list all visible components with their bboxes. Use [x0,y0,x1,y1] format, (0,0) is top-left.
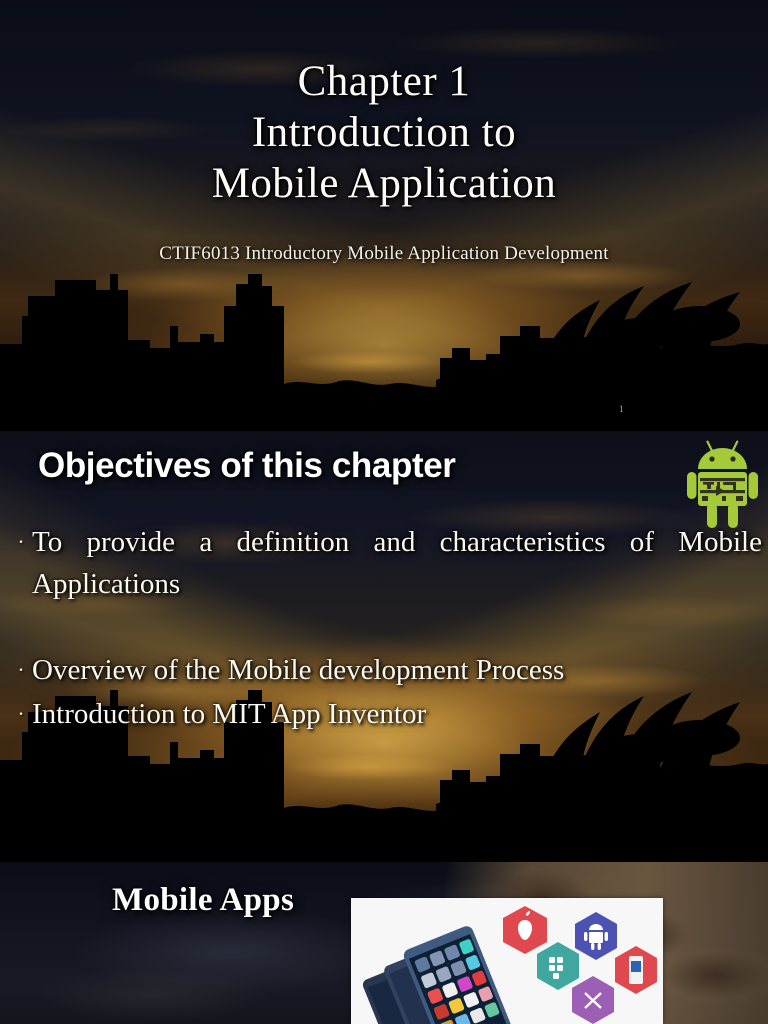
slide-document: Chapter 1 Introduction to Mobile Applica… [0,0,768,1024]
mobile-apps-heading: Mobile Apps [112,882,294,919]
bullet-text: To provide a definition and characterist… [32,521,762,647]
title-line-1: Chapter 1 [0,56,768,107]
slide-objectives: Objectives of this chapter [0,431,768,862]
objectives-heading: Objectives of this chapter [38,446,456,486]
slide-divider-2 [0,860,768,862]
list-item: · To provide a definition and characteri… [10,521,762,647]
page-number: 1 [619,404,624,414]
android-robot-icon [686,439,759,529]
list-item: · Overview of the Mobile development Pro… [10,649,762,691]
bullet-dot-icon: · [10,693,32,735]
list-item: · Introduction to MIT App Inventor [10,693,762,735]
slide-divider-1 [0,429,768,431]
bullet-text: Overview of the Mobile development Proce… [32,649,762,691]
course-subtitle: CTIF6013 Introductory Mobile Application… [0,243,768,265]
mobile-apps-photo [351,898,663,1024]
slide-title: Chapter 1 Introduction to Mobile Applica… [0,0,768,431]
title-block: Chapter 1 Introduction to Mobile Applica… [0,56,768,209]
bullet-dot-icon: · [10,521,32,563]
objectives-bullet-list: · To provide a definition and characteri… [10,521,762,737]
title-line-3: Mobile Application [0,158,768,209]
bullet-text: Introduction to MIT App Inventor [32,693,762,735]
title-line-2: Introduction to [0,107,768,158]
slide-mobile-apps: Mobile Apps [0,862,768,1024]
bullet-dot-icon: · [10,649,32,691]
city-skyline-silhouette [0,256,768,431]
